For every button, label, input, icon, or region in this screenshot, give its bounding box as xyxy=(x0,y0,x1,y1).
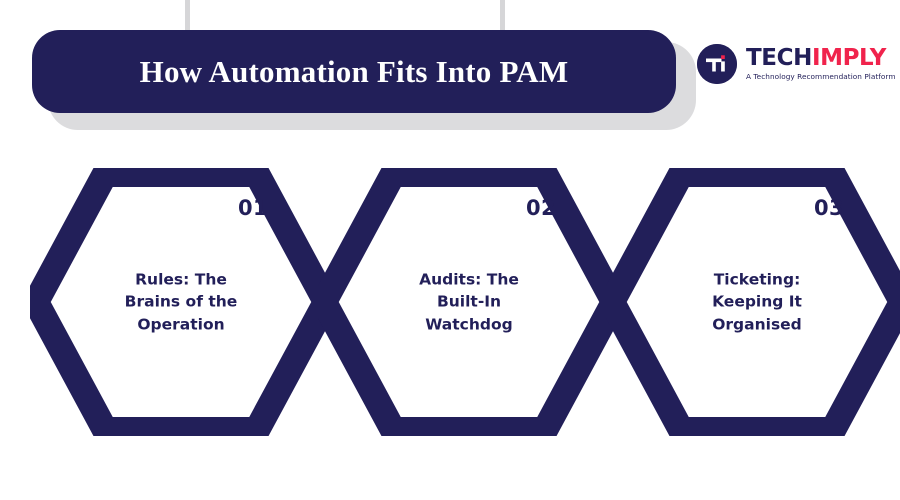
step-hexagon-02[interactable]: 02 Audits: The Built-In Watchdog xyxy=(318,168,620,436)
step-label-line: Rules: The xyxy=(95,268,267,290)
logo-name-tech: TECH xyxy=(746,45,812,71)
step-label-line: Organised xyxy=(671,313,843,335)
logo-tagline: A Technology Recommendation Platform xyxy=(746,73,896,80)
brand-logo[interactable]: TECHIMPLY A Technology Recommendation Pl… xyxy=(697,44,896,84)
infographic-canvas: How Automation Fits Into PAM TECHIMPLY A… xyxy=(0,0,900,500)
step-label-line: Keeping It xyxy=(671,291,843,313)
step-hexagon-03[interactable]: 03 Ticketing: Keeping It Organised xyxy=(606,168,900,436)
step-hexagon-01[interactable]: 01 Rules: The Brains of the Operation xyxy=(30,168,332,436)
step-number-01: 01 xyxy=(238,196,268,220)
step-label-line: Audits: The xyxy=(383,268,555,290)
step-label-line: Built-In xyxy=(383,291,555,313)
step-label-line: Watchdog xyxy=(383,313,555,335)
logo-name-row: TECHIMPLY xyxy=(746,47,896,70)
step-label-line: Brains of the xyxy=(95,291,267,313)
step-number-03: 03 xyxy=(814,196,844,220)
steps-row: 01 Rules: The Brains of the Operation 02… xyxy=(0,168,900,436)
logo-circle-icon xyxy=(697,44,737,84)
step-label-01: Rules: The Brains of the Operation xyxy=(95,268,267,335)
step-label-line: Operation xyxy=(95,313,267,335)
step-number-02: 02 xyxy=(526,196,556,220)
title-banner: How Automation Fits Into PAM xyxy=(32,30,676,113)
logo-wordmark: TECHIMPLY A Technology Recommendation Pl… xyxy=(746,47,896,80)
logo-name-imply: IMPLY xyxy=(812,45,886,71)
step-label-02: Audits: The Built-In Watchdog xyxy=(383,268,555,335)
step-label-line: Ticketing: xyxy=(671,268,843,290)
page-title: How Automation Fits Into PAM xyxy=(140,54,569,90)
step-label-03: Ticketing: Keeping It Organised xyxy=(671,268,843,335)
